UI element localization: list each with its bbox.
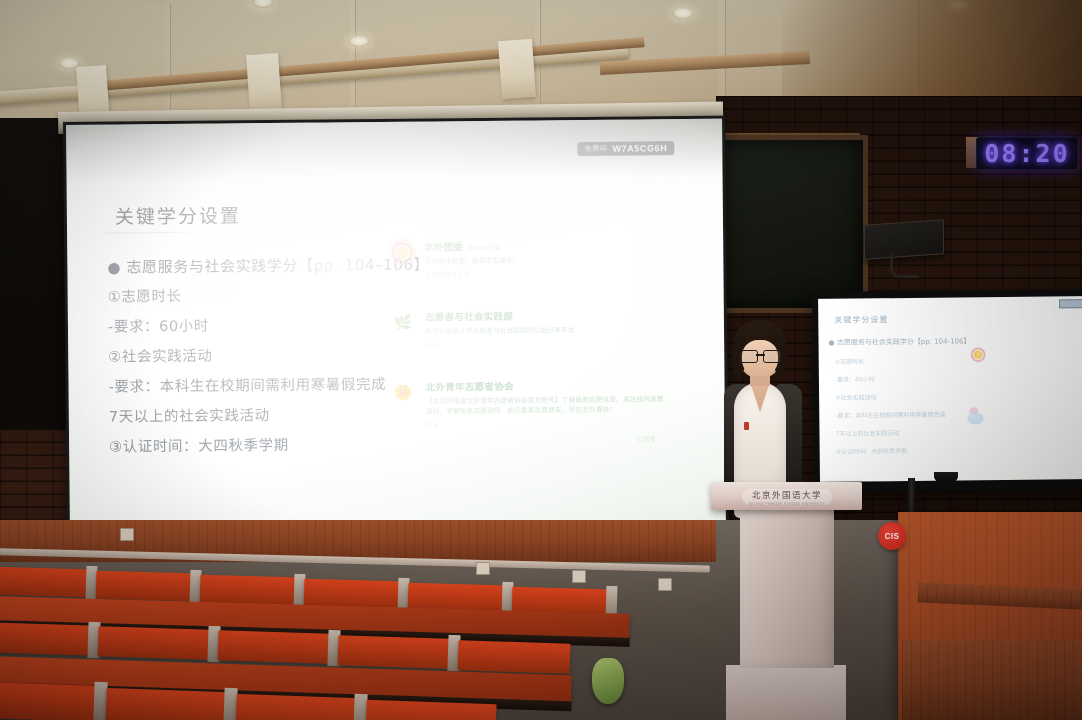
- wechat-card-name: 北外青年志愿者协会: [425, 377, 665, 393]
- downlight-icon: [672, 8, 694, 19]
- slide-body: ● 志愿服务与社会实践学分【pp. 104–106】 ①志愿时长 -要求：60小…: [107, 250, 409, 463]
- seat-back: [98, 626, 211, 660]
- glasses-icon: [740, 350, 781, 361]
- wall-outlet: [476, 562, 490, 575]
- wechat-card: 🌼 北外青年志愿者协会 【北京外国语大学青年志愿者协会官方账号】了解最新志愿信息…: [390, 377, 665, 430]
- side-monitor-screen: 关键学分设置 ● 志愿服务与社会实践学分【pp. 104-106】 ①志愿时长 …: [818, 296, 1082, 482]
- cis-badge: CIS: [878, 522, 906, 550]
- monitor-slide-line: ②社会实践活动: [835, 392, 876, 401]
- seat-back: [0, 622, 90, 655]
- projector-code-badge: 免费码 W7A5CG6H: [578, 141, 675, 156]
- podium-name-cn: 北京外国语大学: [752, 489, 822, 501]
- seat-back: [105, 688, 226, 720]
- podium-body: [740, 510, 834, 668]
- wechat-card-meta: 北京外国语大学: [424, 269, 519, 280]
- blackboard: [706, 135, 868, 313]
- monitor-slide-line: ①志愿时长: [835, 356, 864, 365]
- side-monitor: 关键学分设置 ● 志愿服务与社会实践学分【pp. 104-106】 ①志愿时长 …: [812, 289, 1082, 492]
- wechat-card-desc: 【北京外国语大学青年志愿者协会官方账号】了解最新志愿信息、关注校内志愿活动、学做…: [426, 394, 666, 417]
- speaker-mount: [890, 253, 919, 278]
- clock-time: 08:20: [984, 139, 1069, 168]
- slide-line: ①志愿时长: [108, 280, 408, 313]
- seat-back: [338, 635, 451, 669]
- monitor-slide-line: -要求：60小时: [835, 374, 875, 383]
- monitor-corner-tag: [1059, 299, 1082, 308]
- seat-back: [200, 575, 297, 606]
- monitor-leaf-icon: [967, 412, 983, 424]
- right-bench-front: [902, 640, 1082, 720]
- wall-outlet: [572, 570, 586, 583]
- monitor-slide-bullet: ● 志愿服务与社会实践学分【pp. 104-106】: [828, 336, 970, 347]
- projector-code-label: 免费码: [585, 144, 608, 154]
- slide-line: -要求：60小时: [108, 310, 408, 343]
- wechat-card-desc: 北京外国语大学志愿者与社会实践的公益分享平台: [425, 325, 575, 337]
- seat-back: [96, 571, 193, 602]
- monitor-stand: [934, 472, 958, 482]
- lecture-hall-scene: 08:20 免费码 W7A5CG6H 关键学分设置 ● 志愿服务与社会实践学分【…: [0, 0, 1082, 720]
- led-clock: 08:20: [976, 137, 1078, 170]
- slide-title: 关键学分设置: [115, 201, 241, 229]
- leaf-icon: 🌿: [390, 310, 416, 336]
- wechat-card: 北外团委BeiwaiTW 引领青年思想，服务学生成长。 北京外国语大学: [389, 239, 520, 280]
- wechat-card: 🌿 志愿者与社会实践部 北京外国语大学志愿者与社会实践的公益分享平台 个人: [390, 308, 575, 350]
- seat-back: [365, 700, 496, 720]
- downlight-icon: [348, 36, 370, 47]
- slide-title-rule: [105, 231, 235, 233]
- monitor-slide-line: ③认证时间：大四秋季学期: [836, 446, 907, 456]
- seat-back: [458, 640, 571, 674]
- green-bag: [592, 658, 624, 704]
- monitor-emblem-icon: [971, 347, 986, 362]
- emblem-icon: [389, 240, 415, 266]
- seat-back: [0, 682, 97, 720]
- slide-line: -要求：本科生在校期间需利用寒暑假完成: [108, 370, 408, 403]
- wechat-card-text: 北外青年志愿者协会 【北京外国语大学青年志愿者协会官方账号】了解最新志愿信息、关…: [425, 377, 665, 430]
- wechat-card-name: 志愿者与社会实践部: [425, 308, 575, 323]
- wechat-card-meta: 个人: [425, 338, 575, 349]
- wechat-card-id: BeiwaiTW: [467, 244, 501, 252]
- slide-line: ③认证时间：大四秋季学期: [109, 430, 409, 463]
- podium-nameplate: 北京外国语大学 BEIJING FOREIGN STUDIES UNIVERSI…: [742, 489, 832, 505]
- monitor-slide-title: 关键学分设置: [834, 314, 888, 326]
- wechat-card-text: 北外团委BeiwaiTW 引领青年思想，服务学生成长。 北京外国语大学: [424, 239, 520, 280]
- monitor-slide-line: -要求：本科生在校期间需利用寒暑假完成: [835, 410, 945, 420]
- downlight-icon: [58, 58, 80, 69]
- podium-base: [726, 665, 846, 720]
- seat-back: [0, 567, 88, 598]
- presenter-badge: [744, 422, 749, 430]
- wechat-card-meta: 个人: [426, 418, 666, 430]
- projector-code-value: W7A5CG6H: [612, 143, 667, 154]
- podium-name-en: BEIJING FOREIGN STUDIES UNIVERSITY: [749, 502, 825, 506]
- wall-outlet: [658, 578, 672, 591]
- projection-screen: 免费码 W7A5CG6H 关键学分设置 ● 志愿服务与社会实践学分【pp. 10…: [66, 119, 726, 543]
- wechat-card-text: 志愿者与社会实践部 北京外国语大学志愿者与社会实践的公益分享平台 个人: [425, 308, 575, 350]
- seat-back: [235, 694, 356, 720]
- slide-line: 7天以上的社会实践活动: [109, 400, 409, 433]
- wechat-card-desc: 引领青年思想，服务学生成长。: [424, 256, 519, 267]
- projection-screen-frame: 免费码 W7A5CG6H 关键学分设置 ● 志愿服务与社会实践学分【pp. 10…: [63, 116, 729, 546]
- seat-back: [218, 630, 331, 664]
- flower-icon: 🌼: [390, 380, 416, 406]
- slide-line: ②社会实践活动: [108, 340, 408, 373]
- slide-bullet: ● 志愿服务与社会实践学分【pp. 104–106】: [107, 250, 407, 283]
- wechat-card-name: 北外团委BeiwaiTW: [424, 239, 519, 254]
- ceiling-fin: [498, 39, 536, 99]
- monitor-slide-line: 7天以上的社会实践活动: [835, 428, 899, 438]
- wall-outlet: [120, 528, 134, 541]
- wechat-card-right: 订阅号: [637, 433, 657, 443]
- ceiling-fin: [246, 53, 282, 113]
